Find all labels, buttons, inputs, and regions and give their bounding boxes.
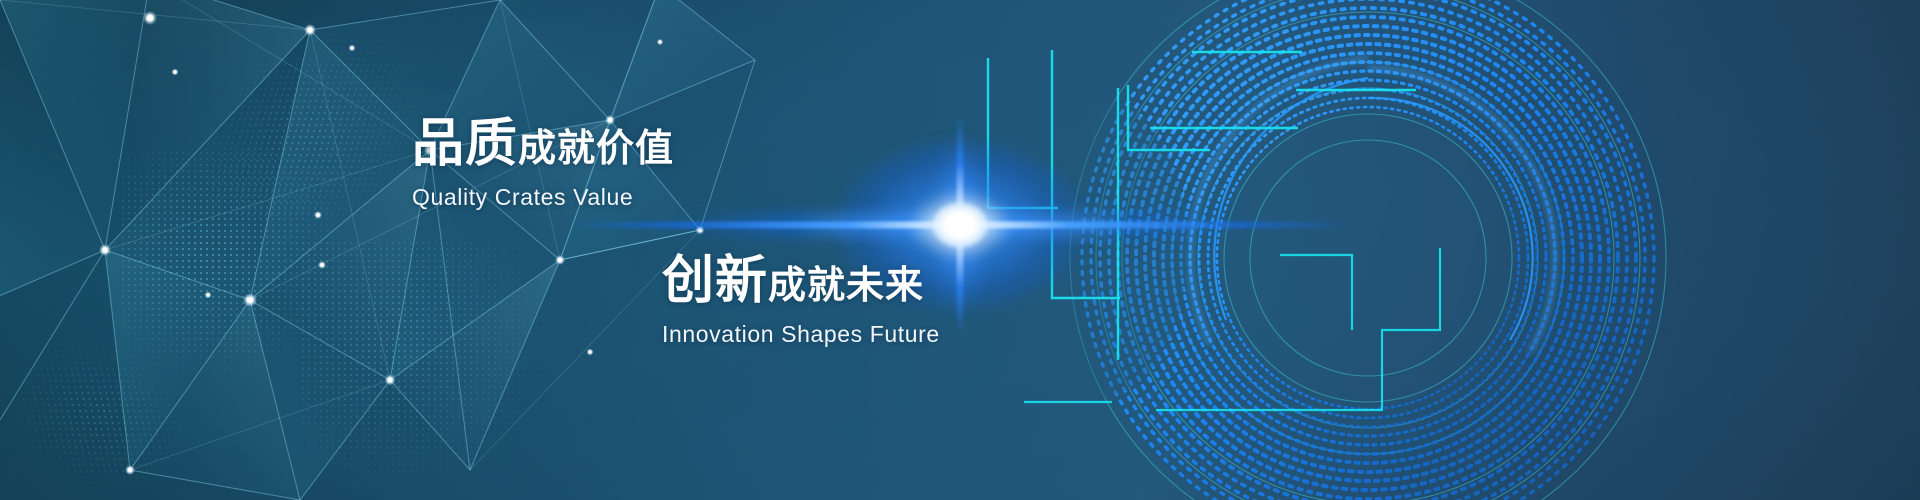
hud-bracket-lines bbox=[980, 30, 1680, 470]
low-poly-network-mesh bbox=[0, 0, 760, 500]
hud-step-outer-right bbox=[1280, 255, 1352, 330]
hud-bracket-2 bbox=[1052, 50, 1120, 298]
hud-bracket-3 bbox=[1128, 85, 1210, 150]
slogan-innovation: 创新 成就未来 Innovation Shapes Future bbox=[662, 255, 940, 348]
slogan-quality-headline-rest: 成就价值 bbox=[518, 129, 674, 167]
slogan-quality-headline: 品质 成就价值 bbox=[412, 118, 674, 170]
flare-vertical-glow bbox=[945, 140, 975, 310]
mesh-facets bbox=[0, 0, 755, 500]
slogan-quality-headline-emphasis: 品质 bbox=[412, 118, 518, 170]
slogan-innovation-headline-emphasis: 创新 bbox=[662, 255, 768, 307]
hero-banner: 品质 成就价值 Quality Crates Value 创新 成就未来 Inn… bbox=[0, 0, 1920, 500]
slogan-quality-subline: Quality Crates Value bbox=[412, 184, 674, 211]
slogan-innovation-headline-rest: 成就未来 bbox=[768, 266, 924, 304]
flare-vertical-beam bbox=[957, 115, 964, 335]
hud-bracket-1 bbox=[988, 58, 1058, 208]
slogan-quality: 品质 成就价值 Quality Crates Value bbox=[412, 118, 674, 211]
slogan-innovation-headline: 创新 成就未来 bbox=[662, 255, 940, 307]
hud-step-lower-right bbox=[1156, 248, 1440, 410]
slogan-innovation-subline: Innovation Shapes Future bbox=[662, 321, 940, 348]
flare-core bbox=[933, 203, 987, 247]
